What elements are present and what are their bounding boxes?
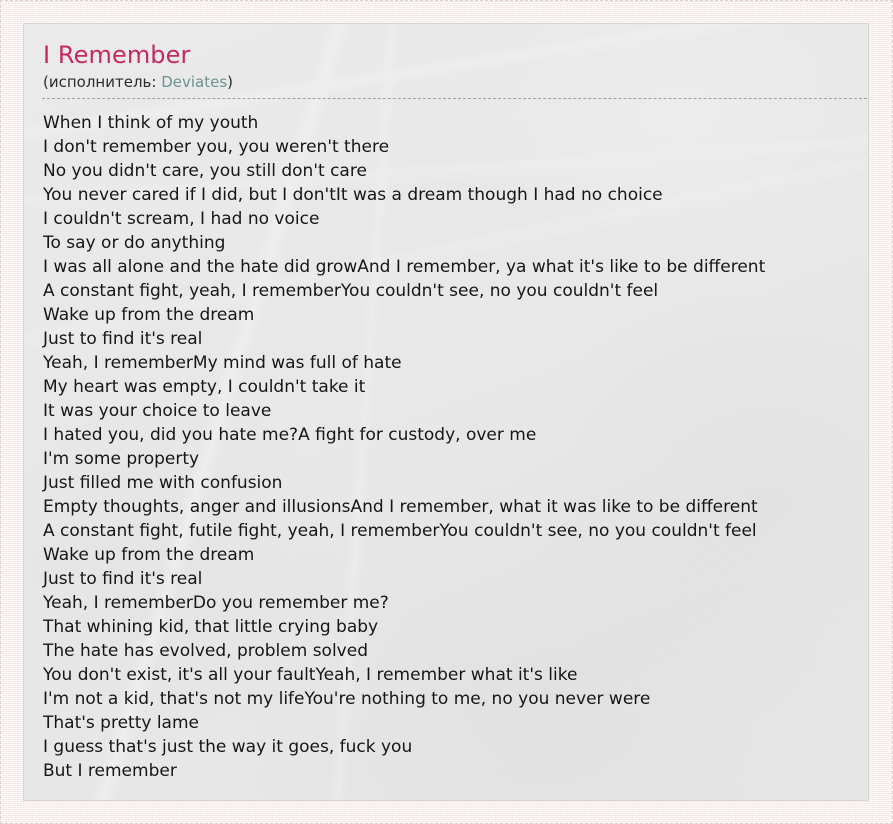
lyric-line: You don't exist, it's all your faultYeah… (43, 663, 848, 687)
lyric-line: Yeah, I rememberMy mind was full of hate (43, 351, 848, 375)
lyric-line: I don't remember you, you weren't there (43, 135, 848, 159)
lyrics-panel: I Remember (исполнитель: Deviates) When … (23, 23, 869, 801)
lyric-line: I hated you, did you hate me?A fight for… (43, 423, 848, 447)
lyric-line: But I remember (43, 759, 848, 783)
lyric-line: Wake up from the dream (43, 303, 848, 327)
page-title: I Remember (43, 41, 848, 69)
panel-content: I Remember (исполнитель: Deviates) When … (24, 24, 868, 783)
lyric-line: A constant fight, yeah, I rememberYou co… (43, 279, 848, 303)
artist-byline: (исполнитель: Deviates) (42, 72, 869, 99)
lyric-line: I guess that's just the way it goes, fuc… (43, 735, 848, 759)
lyric-line: It was your choice to leave (43, 399, 848, 423)
lyric-line: A constant fight, futile fight, yeah, I … (43, 519, 848, 543)
lyric-line: No you didn't care, you still don't care (43, 159, 848, 183)
lyric-line: Just to find it's real (43, 327, 848, 351)
lyric-line: Yeah, I rememberDo you remember me? (43, 591, 848, 615)
lyric-line: You never cared if I did, but I don'tIt … (43, 183, 848, 207)
lyric-line: I couldn't scream, I had no voice (43, 207, 848, 231)
lyric-line: To say or do anything (43, 231, 848, 255)
lyric-line: Just to find it's real (43, 567, 848, 591)
artist-link[interactable]: Deviates (161, 73, 227, 91)
lyric-line: I'm some property (43, 447, 848, 471)
lyric-line: I'm not a kid, that's not my lifeYou're … (43, 687, 848, 711)
lyric-line: My heart was empty, I couldn't take it (43, 375, 848, 399)
artist-prefix-label: (исполнитель: (43, 73, 161, 91)
lyric-line: Empty thoughts, anger and illusionsAnd I… (43, 495, 848, 519)
lyric-line: When I think of my youth (43, 111, 848, 135)
lyric-line: The hate has evolved, problem solved (43, 639, 848, 663)
lyric-line: That whining kid, that little crying bab… (43, 615, 848, 639)
lyrics-text: When I think of my youthI don't remember… (43, 111, 848, 783)
lyric-line: I was all alone and the hate did growAnd… (43, 255, 848, 279)
artist-suffix-label: ) (227, 73, 233, 91)
page-root: I Remember (исполнитель: Deviates) When … (0, 0, 893, 824)
lyric-line: Wake up from the dream (43, 543, 848, 567)
lyric-line: That's pretty lame (43, 711, 848, 735)
lyric-line: Just filled me with confusion (43, 471, 848, 495)
